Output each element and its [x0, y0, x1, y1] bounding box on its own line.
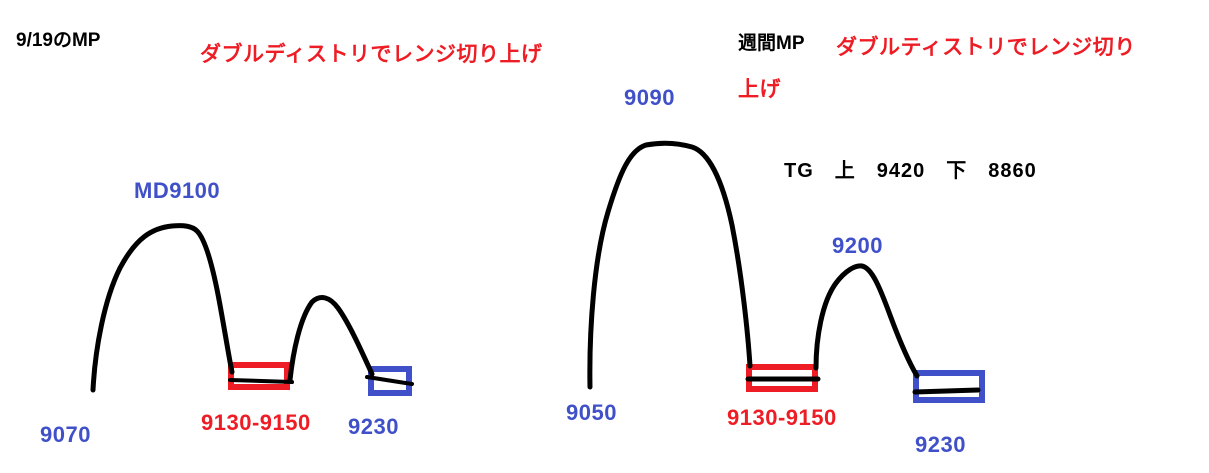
right-panel-annotation-line2: 上げ — [738, 78, 781, 103]
left-end-label: 9230 — [348, 414, 399, 440]
right-peak-label: 9090 — [624, 85, 675, 111]
left-panel-annotation: ダブルディストリでレンジ切り上げ — [200, 43, 543, 68]
right-curve-first-hump — [590, 143, 750, 387]
left-value-area-box-red — [228, 362, 290, 390]
right-second-peak-label: 9200 — [832, 233, 883, 259]
right-panel-title: 週間MP — [738, 33, 805, 55]
right-value-area-box-red — [746, 364, 818, 392]
right-range-label: 9130-9150 — [727, 405, 837, 431]
target-levels-line: TG 上 9420 下 8860 — [784, 160, 1037, 184]
left-peak-label: MD9100 — [134, 178, 220, 204]
left-value-area-box-blue — [368, 366, 412, 396]
right-end-label: 9230 — [915, 432, 966, 458]
left-range-label: 9130-9150 — [201, 410, 311, 436]
right-curve-second-hump — [816, 266, 917, 376]
right-value-area-box-blue — [913, 370, 985, 403]
left-curve-first-hump — [93, 226, 232, 390]
right-start-label: 9050 — [566, 400, 617, 426]
right-panel-annotation-line1: ダブルティストリでレンジ切り — [836, 36, 1136, 61]
left-start-label: 9070 — [40, 422, 91, 448]
left-panel-title: 9/19のMP — [16, 30, 100, 52]
left-curve-second-hump — [290, 297, 372, 380]
drawing-canvas: 9/19のMP ダブルディストリでレンジ切り上げ MD9100 9070 913… — [0, 0, 1209, 473]
